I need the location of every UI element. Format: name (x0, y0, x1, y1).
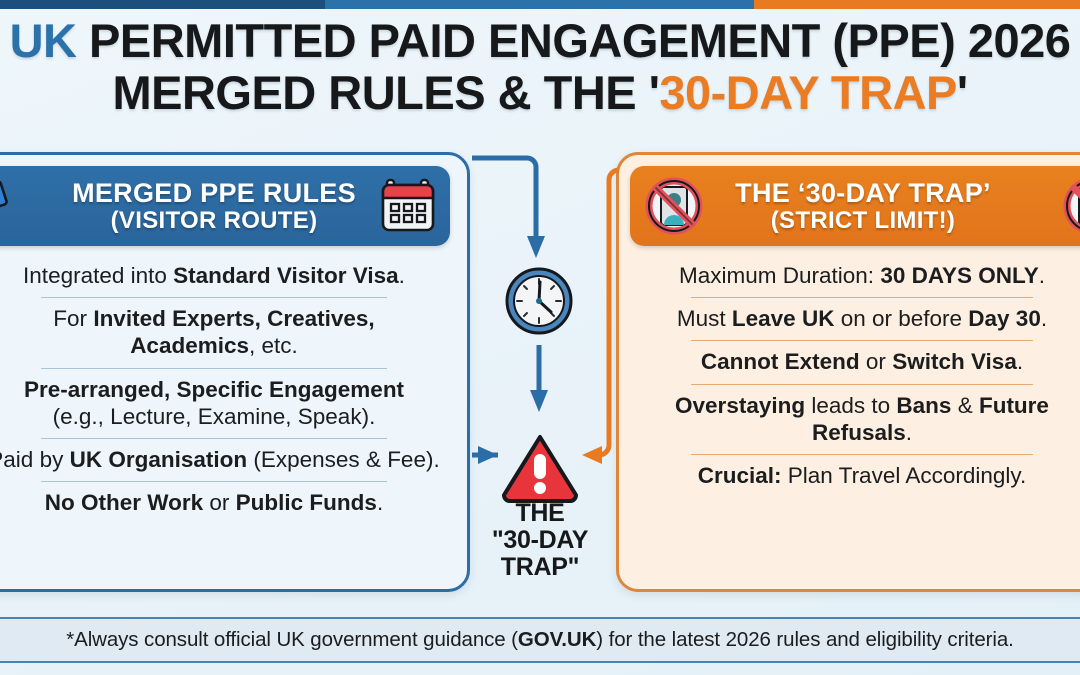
thirty-day-trap-panel: THE ‘30-DAY TRAP’ (STRICT LIMIT!) Maximu… (616, 152, 1080, 592)
clock-icon (503, 265, 575, 337)
warning-triangle-icon (500, 432, 580, 504)
hand-ticket-icon (0, 180, 24, 245)
list-item: Must Leave UK on or before Day 30. (631, 298, 1080, 340)
list-item: Integrated into Standard Visitor Visa. (0, 255, 447, 297)
warning-caption-line-2: "30-DAY (465, 527, 615, 554)
footer-text: *Always consult official UK government g… (66, 628, 1013, 652)
footer-text-after: ) for the latest 2026 rules and eligibil… (596, 628, 1013, 651)
list-item: Overstaying leads to Bans & FutureRefusa… (631, 385, 1080, 454)
left-panel-subheading: (VISITOR ROUTE) (72, 208, 356, 233)
title-line-2-before: MERGED RULES & THE ' (112, 66, 659, 119)
arrow-down-to-warning (530, 390, 548, 412)
footer-govuk-label: GOV.UK (518, 628, 596, 651)
title-uk-prefix: UK (10, 14, 77, 67)
title-line-2-after: ' (957, 66, 968, 119)
list-item: Paid by UK Organisation (Expenses & Fee)… (0, 439, 447, 481)
title-line-2: MERGED RULES & THE '30-DAY TRAP' (0, 70, 1080, 115)
arrow-left-into-warning (478, 446, 498, 464)
right-panel-header: THE ‘30-DAY TRAP’ (STRICT LIMIT!) (630, 166, 1080, 246)
title-line-1: UK PERMITTED PAID ENGAGEMENT (PPE) 2026 (0, 18, 1080, 63)
merged-ppe-rules-panel: MERGED PPE RULES (VISITOR ROUTE) Integra… (0, 152, 470, 592)
list-item: No Other Work or Public Funds. (0, 482, 447, 524)
right-panel-title-text: THE ‘30-DAY TRAP’ (STRICT LIMIT!) (735, 179, 991, 233)
footer-text-before: *Always consult official UK government g… (66, 628, 518, 651)
topbar-segment-orange (754, 0, 1080, 9)
arrow-right-into-warning (582, 446, 602, 464)
top-color-bar (0, 0, 1080, 9)
right-panel-heading: THE ‘30-DAY TRAP’ (735, 178, 991, 208)
list-item: Cannot Extend or Switch Visa. (631, 341, 1080, 383)
left-panel-title-text: MERGED PPE RULES (VISITOR ROUTE) (72, 179, 356, 233)
topbar-segment-dark-blue (0, 0, 325, 9)
warning-caption-line-1: THE (465, 500, 615, 527)
warning-caption: THE "30-DAY TRAP" (465, 500, 615, 581)
warning-caption-line-3: TRAP" (465, 554, 615, 581)
right-panel-list: Maximum Duration: 30 DAYS ONLY. Must Lea… (631, 255, 1080, 497)
list-item: For Invited Experts, Creatives,Academics… (0, 298, 447, 367)
topbar-segment-mid-blue (325, 0, 754, 9)
no-entry-person-icon (642, 174, 706, 243)
list-item: Maximum Duration: 30 DAYS ONLY. (631, 255, 1080, 297)
left-panel-list: Integrated into Standard Visitor Visa. F… (0, 255, 447, 525)
list-item: Pre-arranged, Specific Engagement(e.g., … (0, 369, 447, 438)
no-entry-person-icon (1060, 174, 1080, 243)
right-panel-subheading: (STRICT LIMIT!) (735, 208, 991, 233)
left-panel-header: MERGED PPE RULES (VISITOR ROUTE) (0, 166, 450, 246)
list-item: Crucial: Plan Travel Accordingly. (631, 455, 1080, 497)
title-line-2-highlight: 30-DAY TRAP (659, 66, 957, 119)
left-panel-heading: MERGED PPE RULES (72, 178, 356, 208)
arrow-down-to-clock (527, 236, 545, 258)
calendar-icon (380, 176, 442, 241)
footer-disclaimer-bar: *Always consult official UK government g… (0, 617, 1080, 663)
title-line-1-text: PERMITTED PAID ENGAGEMENT (PPE) 2026 (89, 14, 1070, 67)
page-title: UK PERMITTED PAID ENGAGEMENT (PPE) 2026 … (0, 18, 1080, 115)
